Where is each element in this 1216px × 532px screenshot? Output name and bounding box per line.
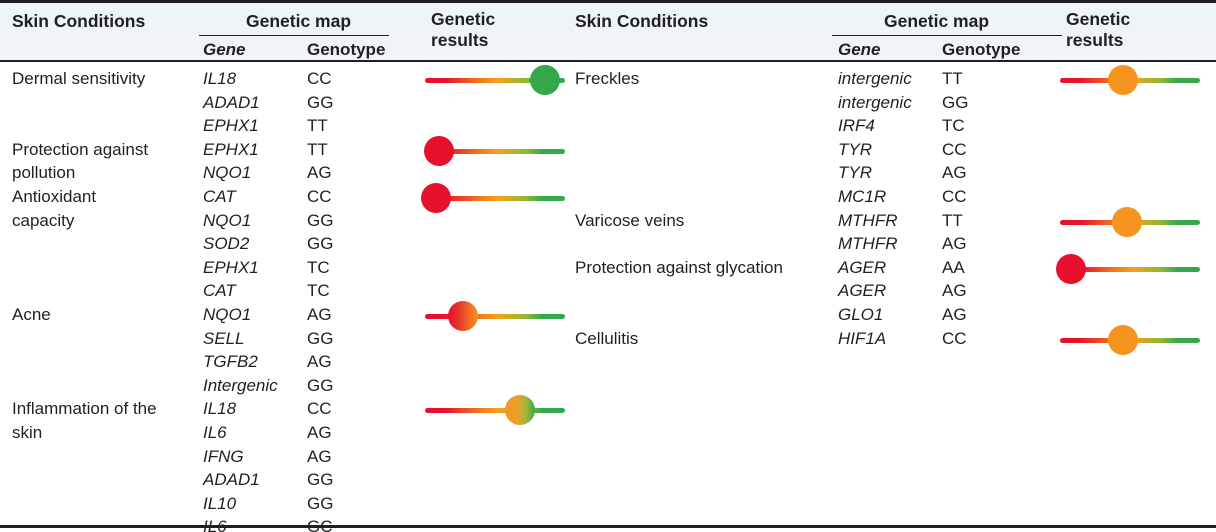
header-genotype-left: Genotype [307, 39, 385, 60]
genetic-result-indicator [1060, 254, 1200, 284]
genotype-label: CC [942, 139, 967, 160]
gene-label: ADAD1 [203, 92, 260, 113]
genotype-label: TC [307, 257, 330, 278]
genotype-label: TT [307, 115, 328, 136]
genetic-result-indicator [1060, 65, 1200, 95]
gene-label: EPHX1 [203, 139, 259, 160]
genotype-label: AG [307, 422, 332, 443]
indicator-knob [421, 183, 451, 213]
genotype-label: AG [942, 233, 967, 254]
condition-label: Dermal sensitivity [12, 68, 145, 89]
header-skin-conditions-right: Skin Conditions [575, 11, 708, 32]
indicator-gradient-bar [425, 408, 565, 413]
gene-label: Intergenic [203, 375, 278, 396]
gene-label: ADAD1 [203, 469, 260, 490]
gene-label: TGFB2 [203, 351, 258, 372]
indicator-knob [424, 136, 454, 166]
genotype-label: CC [307, 186, 332, 207]
genotype-label: AG [307, 304, 332, 325]
condition-label: Protection against [12, 139, 148, 160]
genotype-label: TC [942, 115, 965, 136]
header-genetic-results-right: Genetic results [1066, 9, 1130, 51]
genotype-label: TT [942, 210, 963, 231]
indicator-knob [448, 301, 478, 331]
genotype-label: AG [942, 162, 967, 183]
genotype-label: TT [942, 68, 963, 89]
gene-label: IL18 [203, 398, 236, 419]
condition-label: Inflammation of the [12, 398, 157, 419]
genotype-label: GC [307, 516, 333, 532]
genetic-result-indicator [425, 136, 565, 166]
gene-label: MTHFR [838, 210, 897, 231]
gene-label: AGER [838, 257, 886, 278]
gene-label: TYR [838, 139, 872, 160]
header-gene-left: Gene [203, 39, 246, 60]
genetic-result-indicator [425, 395, 565, 425]
gene-label: GLO1 [838, 304, 883, 325]
condition-label: Acne [12, 304, 51, 325]
genotype-label: TC [307, 280, 330, 301]
genotype-label: AG [307, 446, 332, 467]
gene-label: intergenic [838, 68, 912, 89]
genotype-label: AG [307, 351, 332, 372]
genotype-label: AG [942, 280, 967, 301]
indicator-knob [1108, 65, 1138, 95]
genotype-label: GG [307, 375, 333, 396]
gene-label: AGER [838, 280, 886, 301]
indicator-knob [1108, 325, 1138, 355]
gene-label: MC1R [838, 186, 886, 207]
genotype-label: AG [942, 304, 967, 325]
genotype-label: GG [307, 328, 333, 349]
gene-label: NQO1 [203, 210, 251, 231]
condition-label: Varicose veins [575, 210, 684, 231]
genotype-label: GG [307, 469, 333, 490]
indicator-knob [530, 65, 560, 95]
gene-label: NQO1 [203, 162, 251, 183]
gene-label: IFNG [203, 446, 244, 467]
genetic-map-table-figure: Skin Conditions Genetic map Gene Genotyp… [0, 0, 1216, 532]
gene-label: IL10 [203, 493, 236, 514]
header-rule-genetic-map-right [832, 35, 1062, 36]
genotype-label: AA [942, 257, 965, 278]
header-skin-conditions-left: Skin Conditions [12, 11, 145, 32]
genotype-label: GG [307, 92, 333, 113]
genetic-result-indicator [425, 301, 565, 331]
gene-label: EPHX1 [203, 115, 259, 136]
genotype-label: CC [307, 68, 332, 89]
indicator-knob [1056, 254, 1086, 284]
gene-label: MTHFR [838, 233, 897, 254]
gene-label: SELL [203, 328, 245, 349]
genetic-result-indicator [1060, 207, 1200, 237]
condition-label: Protection against glycation [575, 257, 783, 278]
gene-label: SOD2 [203, 233, 249, 254]
genotype-label: AG [307, 162, 332, 183]
genotype-label: CC [307, 398, 332, 419]
gene-label: intergenic [838, 92, 912, 113]
genetic-result-indicator [425, 183, 565, 213]
gene-label: IL6 [203, 422, 227, 443]
genotype-label: GG [307, 233, 333, 254]
indicator-gradient-bar [425, 314, 565, 319]
header-genetic-results-left: Genetic results [431, 9, 495, 51]
gene-label: NQO1 [203, 304, 251, 325]
gene-label: CAT [203, 280, 236, 301]
condition-label: Cellulitis [575, 328, 638, 349]
header-gene-right: Gene [838, 39, 881, 60]
genetic-result-indicator [425, 65, 565, 95]
genotype-label: CC [942, 186, 967, 207]
gene-label: EPHX1 [203, 257, 259, 278]
gene-label: IRF4 [838, 115, 875, 136]
condition-label: Antioxidant [12, 186, 96, 207]
genotype-label: GG [942, 92, 968, 113]
header-genetic-map-right: Genetic map [884, 11, 989, 32]
condition-label: skin [12, 422, 42, 443]
header-genotype-right: Genotype [942, 39, 1020, 60]
genotype-label: GG [307, 210, 333, 231]
condition-label: capacity [12, 210, 74, 231]
gene-label: TYR [838, 162, 872, 183]
genotype-label: CC [942, 328, 967, 349]
table-body: Dermal sensitivityIL18CCADAD1GGEPHX1TTPr… [0, 62, 1216, 528]
condition-label: Freckles [575, 68, 639, 89]
indicator-knob [505, 395, 535, 425]
genotype-label: GG [307, 493, 333, 514]
gene-label: HIF1A [838, 328, 886, 349]
gene-label: IL18 [203, 68, 236, 89]
table-header-band: Skin Conditions Genetic map Gene Genotyp… [0, 0, 1216, 62]
gene-label: CAT [203, 186, 236, 207]
header-genetic-map-left: Genetic map [246, 11, 351, 32]
condition-label: pollution [12, 162, 75, 183]
header-rule-genetic-map-left [199, 35, 389, 36]
gene-label: IL6 [203, 516, 227, 532]
genetic-result-indicator [1060, 325, 1200, 355]
indicator-knob [1112, 207, 1142, 237]
genotype-label: TT [307, 139, 328, 160]
